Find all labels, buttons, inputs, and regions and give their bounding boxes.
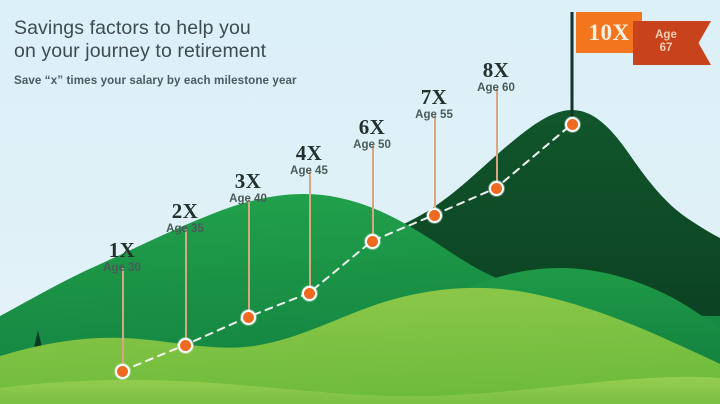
milestone-dot-7x[interactable] xyxy=(427,208,442,223)
stem-6x xyxy=(372,145,374,236)
milestone-age: Age 60 xyxy=(466,82,526,95)
milestone-multiplier: 4X xyxy=(279,143,339,163)
page-title-line2: on your journey to retirement xyxy=(14,40,444,63)
milestone-multiplier: 1X xyxy=(92,240,152,260)
milestone-dot-4x[interactable] xyxy=(302,286,317,301)
flag-age-value: 67 xyxy=(633,42,711,55)
headline-block: Savings factors to help you on your jour… xyxy=(14,17,444,88)
milestone-multiplier: 7X xyxy=(404,87,464,107)
flag-multiplier-label: 10X xyxy=(576,12,642,53)
milestone-label-1x: 1X Age 30 xyxy=(92,240,152,275)
retirement-flag: 10X Age 67 xyxy=(560,4,720,134)
stem-2x xyxy=(185,229,187,339)
milestone-multiplier: 3X xyxy=(218,171,278,191)
stem-3x xyxy=(248,199,250,311)
stem-7x xyxy=(434,115,436,210)
page-title-line1: Savings factors to help you xyxy=(14,17,444,40)
flag-age-word: Age xyxy=(633,21,711,42)
milestone-age: Age 35 xyxy=(155,223,215,236)
milestone-multiplier: 6X xyxy=(342,117,402,137)
milestone-age: Age 45 xyxy=(279,165,339,178)
milestone-label-7x: 7X Age 55 xyxy=(404,87,464,122)
milestone-label-6x: 6X Age 50 xyxy=(342,117,402,152)
flag-age-ribbon: Age 67 xyxy=(633,21,711,65)
milestone-label-8x: 8X Age 60 xyxy=(466,60,526,95)
infographic-canvas: Savings factors to help you on your jour… xyxy=(0,0,720,404)
milestone-dot-6x[interactable] xyxy=(365,234,380,249)
milestone-label-3x: 3X Age 40 xyxy=(218,171,278,206)
milestone-age: Age 40 xyxy=(218,193,278,206)
milestone-label-2x: 2X Age 35 xyxy=(155,201,215,236)
milestone-age: Age 50 xyxy=(342,139,402,152)
milestone-age: Age 55 xyxy=(404,109,464,122)
milestone-age: Age 30 xyxy=(92,262,152,275)
stem-1x xyxy=(122,268,124,364)
milestone-multiplier: 8X xyxy=(466,60,526,80)
milestone-dot-2x[interactable] xyxy=(178,338,193,353)
milestone-label-4x: 4X Age 45 xyxy=(279,143,339,178)
stem-8x xyxy=(496,88,498,183)
milestone-dot-3x[interactable] xyxy=(241,310,256,325)
milestone-dot-1x[interactable] xyxy=(115,364,130,379)
page-subtitle: Save “x” times your salary by each miles… xyxy=(14,74,444,88)
flag-multiplier-block: 10X xyxy=(576,12,642,53)
milestone-multiplier: 2X xyxy=(155,201,215,221)
stem-4x xyxy=(309,171,311,287)
milestone-dot-8x[interactable] xyxy=(489,181,504,196)
